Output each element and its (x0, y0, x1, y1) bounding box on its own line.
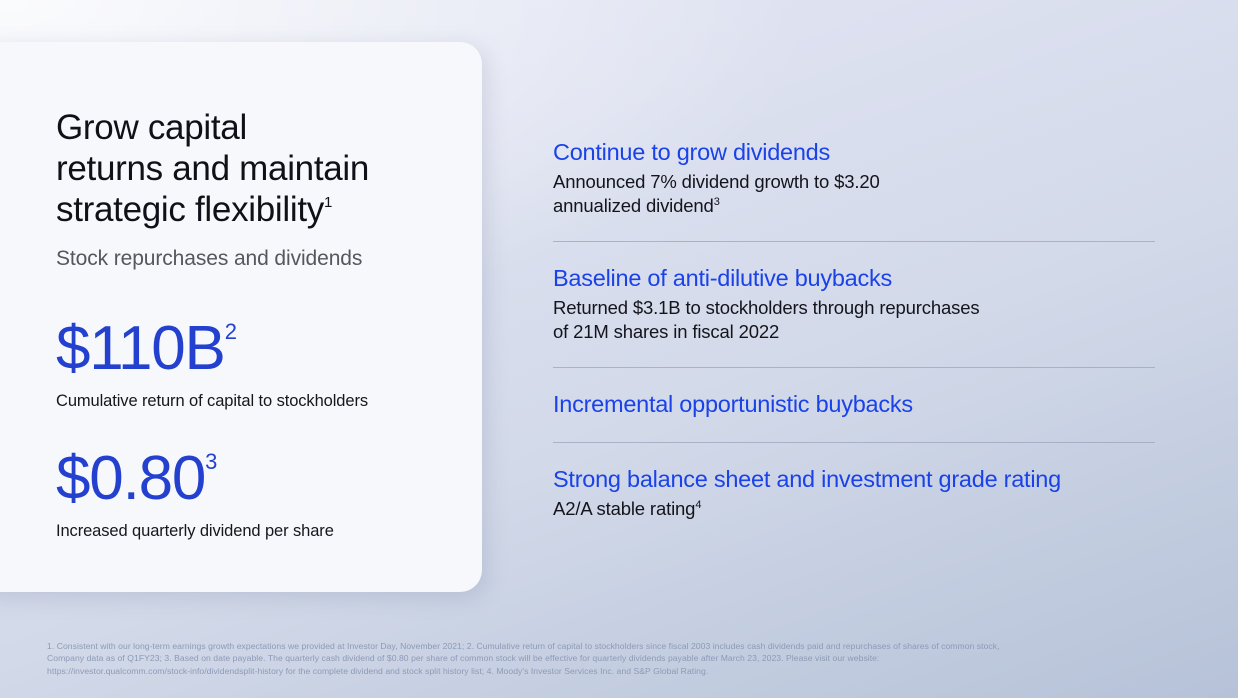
point-body-text: Announced 7% dividend growth to $3.20 an… (553, 171, 880, 216)
point-heading: Baseline of anti-dilutive buybacks (553, 264, 1155, 293)
section-divider (553, 442, 1155, 443)
point-body: A2/A stable rating4 (553, 497, 1155, 521)
point-incremental-opportunistic-buybacks: Incremental opportunistic buybacks (553, 390, 1155, 419)
point-body: Announced 7% dividend growth to $3.20 an… (553, 170, 1155, 218)
point-footnote-marker: 4 (695, 499, 701, 511)
point-body-text: A2/A stable rating (553, 498, 695, 519)
section-divider (553, 367, 1155, 368)
stat-caption: Increased quarterly dividend per share (56, 521, 456, 542)
stat-block-quarterly-dividend: $0.803 Increased quarterly dividend per … (56, 448, 456, 542)
footnotes: 1. Consistent with our long-term earning… (47, 640, 1197, 677)
left-card-inner: Grow capital returns and maintain strate… (56, 107, 456, 542)
point-body-text: Returned $3.1B to stockholders through r… (553, 297, 979, 342)
point-body: Returned $3.1B to stockholders through r… (553, 296, 1155, 344)
page-title-footnote-marker: 1 (324, 194, 332, 211)
point-strong-balance-sheet: Strong balance sheet and investment grad… (553, 465, 1155, 521)
point-heading: Continue to grow dividends (553, 138, 1155, 167)
stat-caption: Cumulative return of capital to stockhol… (56, 391, 456, 412)
left-content-card: Grow capital returns and maintain strate… (0, 42, 482, 592)
point-heading: Strong balance sheet and investment grad… (553, 465, 1155, 494)
point-baseline-anti-dilutive-buybacks: Baseline of anti-dilutive buybacks Retur… (553, 264, 1155, 344)
point-continue-to-grow-dividends: Continue to grow dividends Announced 7% … (553, 138, 1155, 218)
capital-allocation-points-list: Continue to grow dividends Announced 7% … (553, 138, 1155, 521)
stat-footnote-marker: 2 (225, 319, 237, 344)
stat-value: $0.803 (56, 448, 456, 510)
stat-value-text: $110B (56, 314, 225, 383)
page-title: Grow capital returns and maintain strate… (56, 107, 456, 230)
point-heading: Incremental opportunistic buybacks (553, 390, 1155, 419)
stat-value-text: $0.80 (56, 444, 205, 513)
section-divider (553, 241, 1155, 242)
point-footnote-marker: 3 (714, 196, 720, 208)
page-title-text: Grow capital returns and maintain strate… (56, 108, 369, 229)
stat-value: $110B2 (56, 318, 456, 380)
page-subtitle: Stock repurchases and dividends (56, 246, 456, 272)
stat-block-cumulative-return: $110B2 Cumulative return of capital to s… (56, 318, 456, 412)
slide-canvas: Grow capital returns and maintain strate… (0, 0, 1238, 698)
stat-footnote-marker: 3 (205, 449, 217, 474)
